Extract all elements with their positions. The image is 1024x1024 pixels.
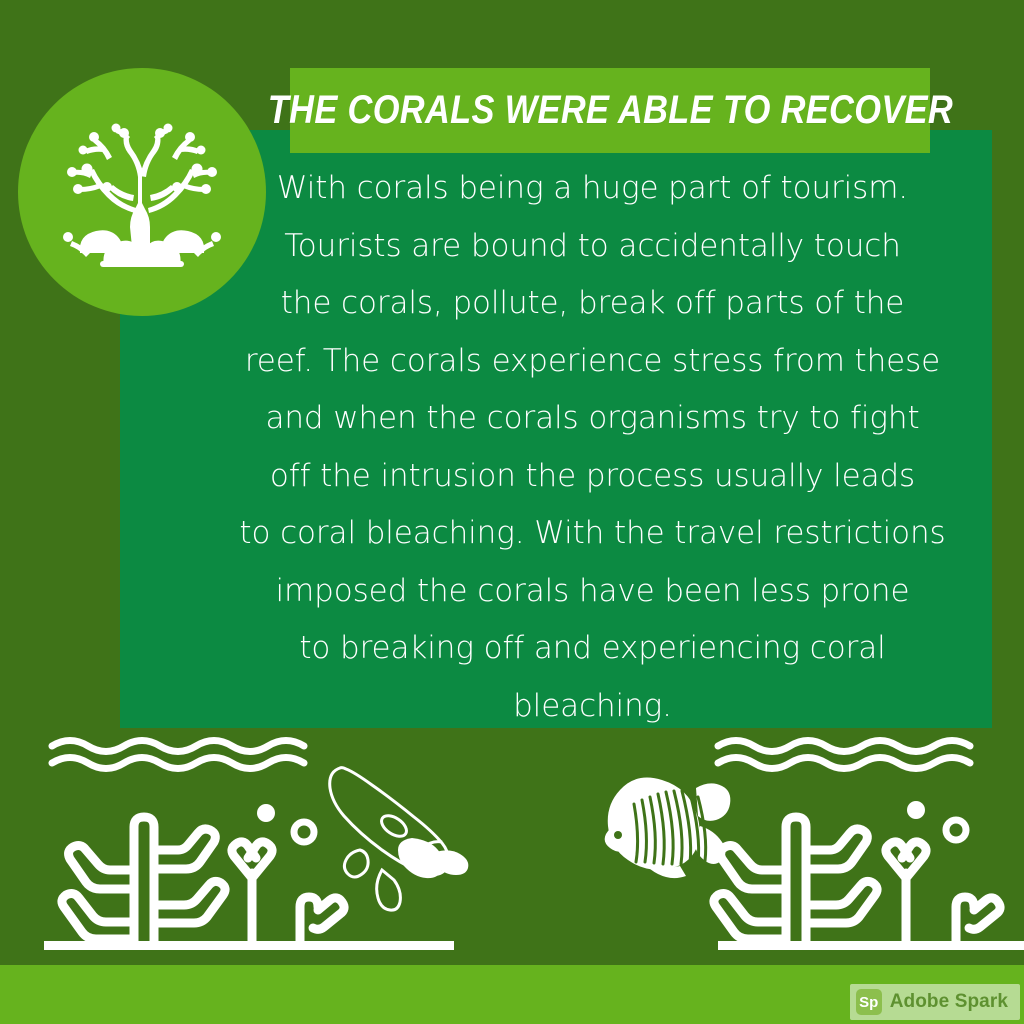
body-line: Tourists are bound to accidentally touch xyxy=(225,218,960,276)
body-line: the corals, pollute, break off parts of … xyxy=(225,275,960,333)
body-line: off the intrusion the process usually le… xyxy=(225,448,960,506)
title-banner: THE CORALS WERE ABLE TO RECOVER xyxy=(290,68,930,153)
water-waves-icon xyxy=(718,741,970,769)
body-copy: With corals being a huge part of tourism… xyxy=(225,160,960,735)
body-line: reef. The corals experience stress from … xyxy=(225,333,960,391)
butterflyfish-icon xyxy=(605,778,731,879)
seabed-line-icon xyxy=(718,941,1024,950)
bubble-icon xyxy=(257,804,275,822)
koi-fish-icon xyxy=(330,768,469,910)
underwater-scene-right xyxy=(600,730,1024,955)
underwater-scene-left xyxy=(44,730,514,955)
bubble-icon xyxy=(946,820,966,840)
page-title: THE CORALS WERE ABLE TO RECOVER xyxy=(267,88,952,133)
poster-canvas: THE CORALS WERE ABLE TO RECOVER xyxy=(0,0,1024,1024)
coral-icon xyxy=(42,117,242,267)
body-line: bleaching. xyxy=(225,678,960,736)
sea-plant-icon xyxy=(956,897,1000,945)
coral-branch-icon xyxy=(714,817,877,945)
bubble-icon xyxy=(907,801,925,819)
bubble-icon xyxy=(294,822,314,842)
seabed-line-icon xyxy=(44,941,454,950)
body-line: imposed the corals have been less prone xyxy=(225,563,960,621)
adobe-spark-logo-icon: Sp xyxy=(856,989,882,1015)
sea-plant-icon xyxy=(300,897,344,945)
sea-plant-icon xyxy=(886,842,926,945)
adobe-spark-watermark[interactable]: Sp Adobe Spark xyxy=(850,984,1020,1020)
water-waves-icon xyxy=(52,741,304,769)
body-line: to coral bleaching. With the travel rest… xyxy=(225,505,960,563)
body-line: With corals being a huge part of tourism… xyxy=(225,160,960,218)
body-line: to breaking off and experiencing coral xyxy=(225,620,960,678)
coral-branch-icon xyxy=(62,817,225,945)
adobe-spark-label: Adobe Spark xyxy=(890,991,1008,1013)
sea-plant-icon xyxy=(232,842,272,945)
body-line: and when the corals organisms try to fig… xyxy=(225,390,960,448)
